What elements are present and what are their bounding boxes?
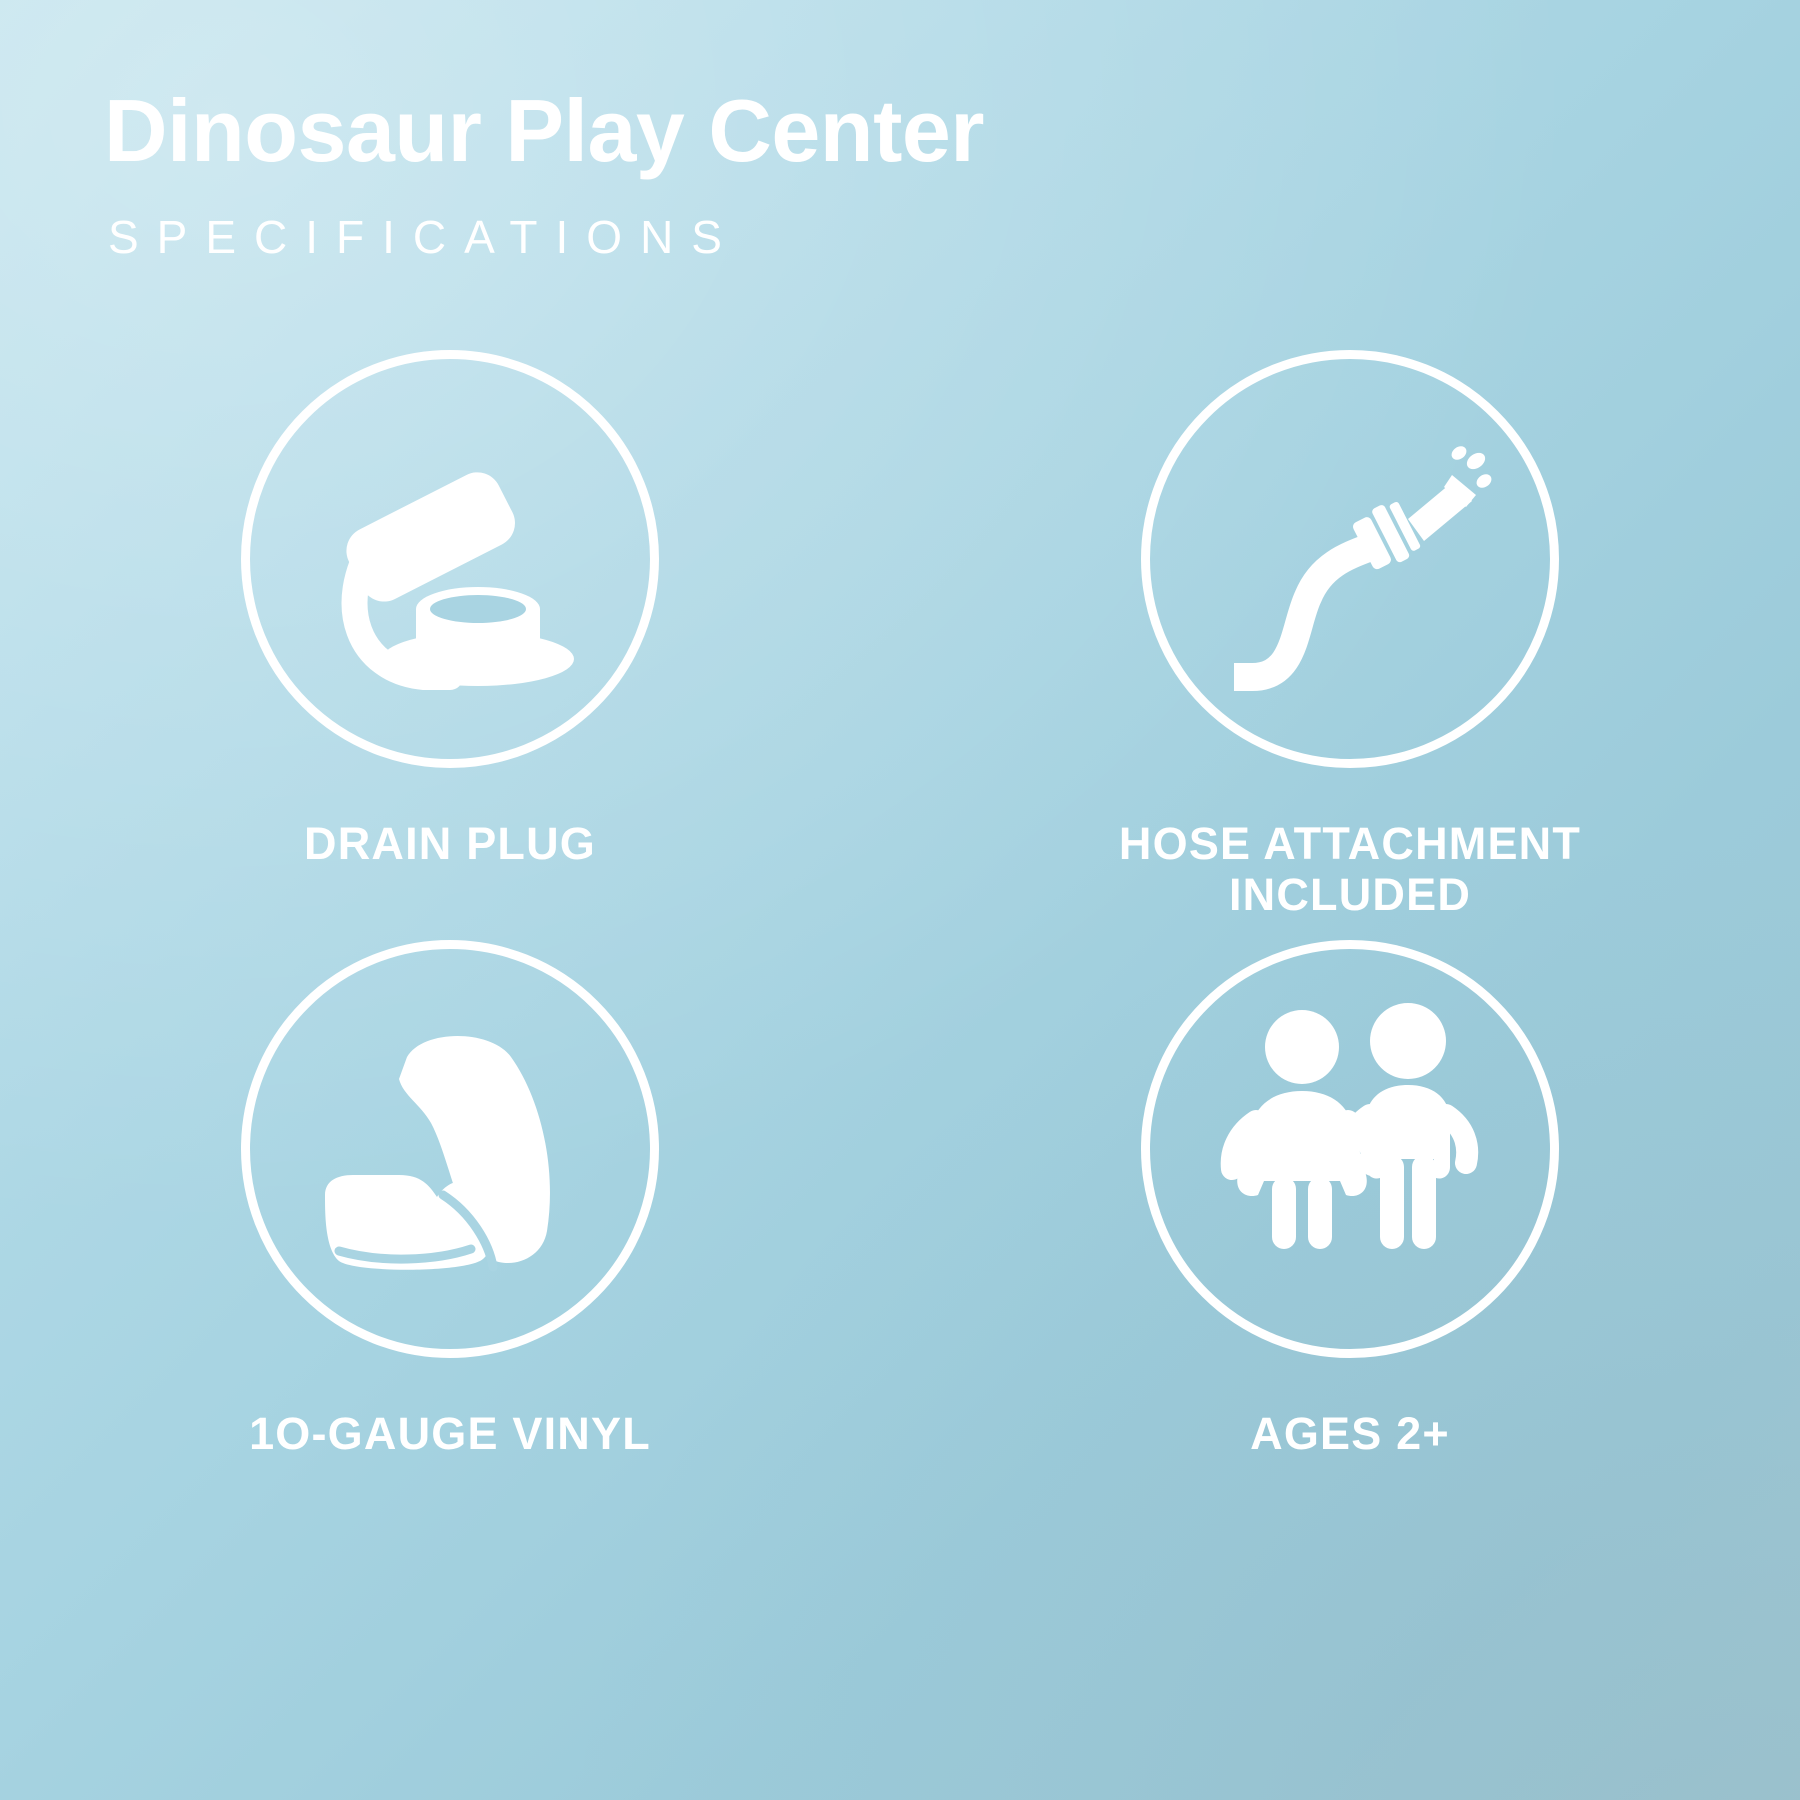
spec-item-drain-plug: DRAIN PLUG	[0, 350, 900, 940]
spec-item-ten-gauge-vinyl: 1O-GAUGE VINYL	[0, 940, 900, 1530]
icon-circle-ages	[1141, 940, 1559, 1358]
page-title: Dinosaur Play Center	[104, 86, 984, 176]
spec-label-ages: AGES 2+	[1250, 1408, 1450, 1459]
spec-label-ten-gauge-vinyl: 1O-GAUGE VINYL	[249, 1408, 651, 1459]
spec-grid: DRAIN PLUG	[0, 350, 1800, 1530]
two-children-icon	[1200, 999, 1500, 1299]
specifications-poster: Dinosaur Play Center SPECIFICATIONS	[0, 0, 1800, 1800]
drain-plug-icon	[300, 409, 600, 709]
spec-item-hose-attachment: HOSE ATTACHMENT INCLUDED	[900, 350, 1800, 940]
spec-label-drain-plug: DRAIN PLUG	[304, 818, 596, 869]
hose-nozzle-icon	[1200, 409, 1500, 709]
spec-label-hose-attachment: HOSE ATTACHMENT INCLUDED	[1119, 818, 1581, 921]
icon-circle-drain-plug	[241, 350, 659, 768]
spec-item-ages: AGES 2+	[900, 940, 1800, 1530]
icon-circle-hose-attachment	[1141, 350, 1559, 768]
icon-circle-ten-gauge-vinyl	[241, 940, 659, 1358]
page-subtitle: SPECIFICATIONS	[108, 210, 984, 264]
header-block: Dinosaur Play Center SPECIFICATIONS	[104, 86, 984, 264]
flexed-bicep-icon	[295, 999, 605, 1299]
